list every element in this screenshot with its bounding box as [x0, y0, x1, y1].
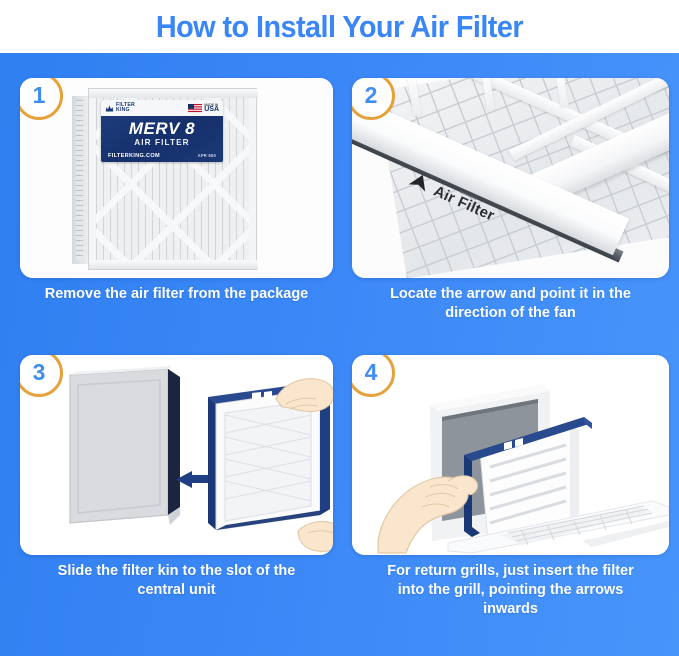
step-1-caption: Remove the air filter from the package — [20, 285, 333, 304]
step-2-image-card: Air Filter AIRFLOW 2 — [352, 78, 669, 278]
steps-grid: FILTER KING — [0, 53, 679, 656]
website-text: FILTERKING.COM — [108, 153, 160, 159]
label-header-strip: FILTER KING — [101, 100, 223, 116]
step-3-illustration — [20, 355, 333, 555]
infographic-root: How to Install Your Air Filter — [0, 0, 679, 656]
step-card-3: 3 Slide the filter kin to the slot of th… — [20, 355, 333, 600]
usa-label: USA — [204, 108, 219, 113]
hand-upper — [276, 379, 333, 412]
caption-line: central unit — [20, 581, 333, 600]
step-4-caption: For return grills, just insert the filte… — [352, 562, 669, 619]
air-filter-product-photo: FILTER KING — [72, 88, 257, 270]
step-number-3: 3 — [33, 361, 46, 384]
brand-words: FILTER KING — [116, 103, 135, 114]
caption-line: direction of the fan — [352, 304, 669, 323]
filter-frame-bottom — [89, 260, 258, 269]
step-card-2: Air Filter AIRFLOW 2 Locate the arrow an… — [352, 78, 669, 323]
caption-line: Remove the air filter from the package — [20, 285, 333, 304]
made-in-usa-badge: MADE IN USA — [188, 103, 219, 112]
slide-filter-into-slot-graphic — [20, 355, 333, 555]
step-3-image-card: 3 — [20, 355, 333, 555]
central-unit-slot — [70, 366, 180, 525]
step-number-1: 1 — [33, 84, 46, 107]
caption-line: For return grills, just insert the filte… — [352, 562, 669, 581]
usa-flag-icon — [188, 104, 202, 113]
caption-line: into the grill, pointing the arrows — [352, 581, 669, 600]
step-1-image-card: FILTER KING — [20, 78, 333, 278]
merv-rating: MERV 8 — [101, 119, 223, 139]
page-title: How to Install Your Air Filter — [156, 9, 523, 45]
label-footer: FILTERKING.COM APR 650 — [101, 153, 223, 159]
hand-lower — [298, 521, 333, 551]
product-subtitle: AIR FILTER — [101, 138, 223, 147]
caption-line: inwards — [352, 600, 669, 619]
title-bar: How to Install Your Air Filter — [0, 0, 679, 53]
crown-icon — [105, 104, 114, 113]
step-card-1: FILTER KING — [20, 78, 333, 323]
step-2-caption: Locate the arrow and point it in the dir… — [352, 285, 669, 323]
made-in-usa-text: MADE IN USA — [204, 103, 219, 112]
step-2-photo: Air Filter AIRFLOW — [352, 78, 669, 278]
insert-filter-into-return-grill-graphic — [352, 355, 669, 555]
filter-frame-top — [89, 89, 258, 98]
step-1-photo: FILTER KING — [20, 78, 333, 278]
caption-line: Locate the arrow and point it in the — [352, 285, 669, 304]
apr-code: APR 650 — [198, 153, 216, 158]
step-4-illustration — [352, 355, 669, 555]
filter-product-label: FILTER KING — [101, 100, 223, 162]
step-number-2: 2 — [365, 84, 378, 107]
step-3-caption: Slide the filter kin to the slot of the … — [20, 562, 333, 600]
step-number-4: 4 — [365, 361, 378, 384]
caption-line: Slide the filter kin to the slot of the — [20, 562, 333, 581]
brand-line-2: KING — [116, 108, 135, 113]
step-card-4: 4 For return grills, just insert the fil… — [352, 355, 669, 600]
filter-front-face: FILTER KING — [88, 88, 257, 270]
step-4-image-card: 4 — [352, 355, 669, 555]
filter-king-logo: FILTER KING — [105, 103, 135, 114]
